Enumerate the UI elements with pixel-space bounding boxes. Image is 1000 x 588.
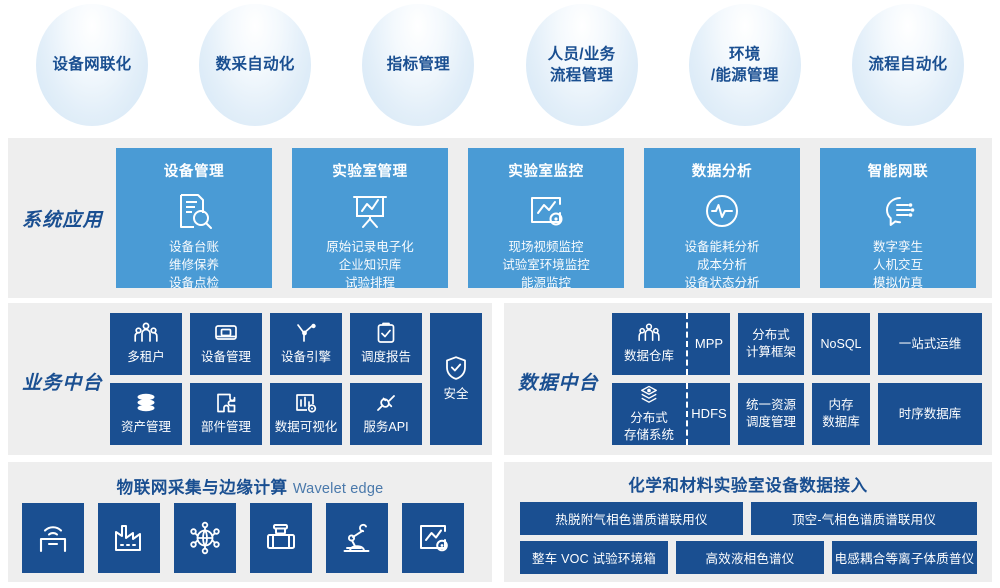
- sys-card-sub-list: 数字孪生 人机交互 模拟仿真: [873, 239, 923, 292]
- capability-oval-row: 设备网联化 数采自动化 指标管理 人员/业务流程管理 环境/能源管理 流程自动化: [0, 0, 1000, 130]
- sys-card-laboratory-monitoring[interactable]: 实验室监控 现场视频监控 试验室环境监控 能源监控: [468, 148, 624, 288]
- sys-card-sub: 设备能耗分析: [684, 239, 759, 257]
- biz-tile-label: 设备引擎: [281, 349, 331, 366]
- data-tile-label: 数据仓库: [624, 348, 674, 365]
- data-tile-label-line1: 统一资源: [746, 397, 796, 414]
- sys-card-intelligent-networking[interactable]: 智能网联 数字孪生 人机交互 模拟仿真: [820, 148, 976, 288]
- data-tile-distributed-compute[interactable]: 分布式 计算框架: [738, 313, 804, 375]
- capability-label: 环境/能源管理: [711, 44, 779, 87]
- lab-box-thermal-desorption-gcms[interactable]: 热脱附气相色谱质谱联用仪: [520, 502, 743, 535]
- sys-card-sub: 企业知识库: [326, 257, 414, 275]
- data-tile-mpp[interactable]: MPP: [686, 313, 730, 375]
- lab-box-icp-ms[interactable]: 电感耦合等离子体质普仪: [832, 541, 977, 574]
- sys-card-sub: 能源监控: [502, 275, 590, 293]
- chart-view-icon: [294, 392, 318, 414]
- biz-tile-dispatch-report[interactable]: 调度报告: [350, 313, 422, 375]
- wifi-gateway-icon: [36, 521, 70, 555]
- capability-label: 指标管理: [387, 54, 450, 75]
- data-tile-label: 一站式运维: [899, 336, 962, 353]
- monitor-chart-eye-icon: [526, 191, 566, 231]
- capability-label: 人员/业务流程管理: [548, 44, 616, 87]
- industrial-equipment-icon: [264, 521, 298, 555]
- biz-tile-label: 资产管理: [121, 419, 171, 436]
- biz-tile-multi-tenant[interactable]: 多租户: [110, 313, 182, 375]
- capability-label-line1: 人员/业务: [548, 46, 616, 63]
- capability-oval[interactable]: 数采自动化: [199, 4, 311, 126]
- data-tile-hdfs[interactable]: HDFS: [686, 383, 730, 445]
- cube-layers-icon: [639, 385, 659, 405]
- capability-label-line1: 环境: [729, 46, 761, 63]
- sys-card-sub: 原始记录电子化: [326, 239, 414, 257]
- sys-card-laboratory-management[interactable]: 实验室管理 原始记录电子化 企业知识库 试验排程: [292, 148, 448, 288]
- clipboard-check-icon: [375, 322, 397, 344]
- lab-box-label: 高效液相色谱仪: [706, 548, 795, 567]
- puzzle-piece-icon: [215, 392, 237, 414]
- sys-card-sub-list: 设备能耗分析 成本分析 设备状态分析: [684, 239, 759, 292]
- biz-tile-device-management[interactable]: 设备管理: [190, 313, 262, 375]
- data-tile-distributed-storage[interactable]: 分布式 存储系统: [612, 383, 686, 445]
- sys-card-sub: 数字孪生: [873, 239, 923, 257]
- data-tile-label-line1: 分布式: [752, 327, 790, 344]
- data-tile-label: HDFS: [691, 405, 726, 423]
- capability-label-line2: 流程管理: [550, 67, 613, 84]
- biz-tile-asset-management[interactable]: 资产管理: [110, 383, 182, 445]
- system-application-row-label: 系统应用: [22, 205, 103, 232]
- document-search-icon: [174, 191, 214, 231]
- device-box-icon: [214, 322, 238, 344]
- digital-twin-head-icon: [878, 191, 918, 231]
- lab-box-label: 顶空-气相色谱质谱联用仪: [792, 509, 936, 528]
- multi-tenant-icon: [638, 323, 660, 343]
- lab-box-headspace-gcms[interactable]: 顶空-气相色谱质谱联用仪: [751, 502, 977, 535]
- sys-card-sub: 人机交互: [873, 257, 923, 275]
- biz-tile-security[interactable]: 安全: [430, 313, 482, 445]
- data-tile-label-line2: 计算框架: [746, 344, 796, 361]
- sys-card-sub-list: 现场视频监控 试验室环境监控 能源监控: [502, 239, 590, 292]
- data-tile-label: MPP: [695, 335, 723, 353]
- iot-edge-subtitle: Wavelet edge: [293, 481, 384, 497]
- biz-tile-label: 数据可视化: [275, 419, 338, 436]
- sys-card-sub: 设备台账: [169, 239, 219, 257]
- sys-card-title: 智能网联: [868, 160, 928, 181]
- data-tile-timeseries-db[interactable]: 时序数据库: [878, 383, 982, 445]
- capability-oval[interactable]: 人员/业务流程管理: [526, 4, 638, 126]
- sys-card-sub-list: 原始记录电子化 企业知识库 试验排程: [326, 239, 414, 292]
- sys-card-data-analysis[interactable]: 数据分析 设备能耗分析 成本分析 设备状态分析: [644, 148, 800, 288]
- biz-tile-label: 部件管理: [201, 419, 251, 436]
- biz-tile-device-engine[interactable]: 设备引擎: [270, 313, 342, 375]
- sys-card-title: 实验室管理: [332, 160, 408, 181]
- biz-tile-data-visualization[interactable]: 数据可视化: [270, 383, 342, 445]
- capability-label-line2: /能源管理: [711, 67, 779, 84]
- sys-card-title: 实验室监控: [508, 160, 584, 181]
- data-tile-label-line1: 分布式: [630, 410, 668, 427]
- sys-card-title: 数据分析: [692, 160, 752, 181]
- data-tile-one-stop-ops[interactable]: 一站式运维: [878, 313, 982, 375]
- biz-tile-label: 安全: [443, 386, 468, 403]
- lab-data-title: 化学和材料实验室设备数据接入: [504, 472, 992, 496]
- sys-card-sub: 试验室环境监控: [502, 257, 590, 275]
- iot-icon-tile-monitor-chart[interactable]: [402, 503, 464, 573]
- iot-icon-tile-factory[interactable]: [98, 503, 160, 573]
- data-tile-label-line2: 存储系统: [624, 427, 674, 444]
- iot-edge-title: 物联网采集与边缘计算 Wavelet edge: [8, 474, 492, 498]
- data-tile-label-line2: 调度管理: [746, 414, 796, 431]
- data-tile-warehouse[interactable]: 数据仓库: [612, 313, 686, 375]
- globe-network-icon: [188, 521, 222, 555]
- biz-tile-label: 多租户: [127, 349, 165, 366]
- iot-icon-tile-wifi-gateway[interactable]: [22, 503, 84, 573]
- lab-box-hplc[interactable]: 高效液相色谱仪: [676, 541, 824, 574]
- data-tile-label: NoSQL: [821, 336, 862, 353]
- iot-icon-tile-globe-network[interactable]: [174, 503, 236, 573]
- capability-label: 流程自动化: [868, 54, 947, 75]
- data-tile-label-line1: 内存: [828, 397, 853, 414]
- sys-card-sub: 模拟仿真: [873, 275, 923, 293]
- iot-icon-tile-industrial-equipment[interactable]: [250, 503, 312, 573]
- sys-card-sub: 维修保养: [169, 257, 219, 275]
- sys-card-sub: 设备状态分析: [684, 275, 759, 293]
- lab-box-voc-chamber[interactable]: 整车 VOC 试验环境箱: [520, 541, 668, 574]
- sys-card-sub: 试验排程: [326, 275, 414, 293]
- sys-card-sub: 现场视频监控: [502, 239, 590, 257]
- architecture-diagram: 设备网联化 数采自动化 指标管理 人员/业务流程管理 环境/能源管理 流程自动化…: [0, 0, 1000, 588]
- database-coins-icon: [134, 392, 158, 414]
- biz-tile-service-api[interactable]: 服务API: [350, 383, 422, 445]
- data-tile-distributed-storage-hdfs[interactable]: 分布式 存储系统 HDFS: [612, 383, 730, 445]
- capability-oval[interactable]: 设备网联化: [36, 4, 148, 126]
- data-tile-label-line2: 数据库: [822, 414, 860, 431]
- biz-tile-label: 调度报告: [361, 349, 411, 366]
- data-tile-unified-resource-scheduling[interactable]: 统一资源 调度管理: [738, 383, 804, 445]
- sys-card-title: 设备管理: [164, 160, 224, 181]
- pulse-circle-icon: [702, 191, 742, 231]
- biz-tile-component-management[interactable]: 部件管理: [190, 383, 262, 445]
- business-platform-row-label: 业务中台: [22, 368, 103, 395]
- capability-oval[interactable]: 环境/能源管理: [689, 4, 801, 126]
- sys-card-sub: 成本分析: [684, 257, 759, 275]
- lab-box-label: 热脱附气相色谱质谱联用仪: [555, 509, 707, 528]
- lab-box-label: 电感耦合等离子体质普仪: [835, 548, 975, 567]
- biz-tile-label: 服务API: [363, 419, 408, 436]
- lab-box-label: 整车 VOC 试验环境箱: [532, 548, 656, 567]
- robot-arm-icon: [340, 521, 374, 555]
- presentation-chart-icon: [350, 191, 390, 231]
- data-tile-label: 时序数据库: [899, 406, 962, 423]
- node-graph-icon: [294, 322, 318, 344]
- data-tile-nosql[interactable]: NoSQL: [812, 313, 870, 375]
- data-tile-warehouse-mpp[interactable]: 数据仓库 MPP: [612, 313, 730, 375]
- plug-connect-icon: [374, 392, 398, 414]
- biz-tile-label: 设备管理: [201, 349, 251, 366]
- shield-check-icon: [444, 355, 468, 381]
- sys-card-device-management[interactable]: 设备管理 设备台账 维修保养 设备点检: [116, 148, 272, 288]
- capability-oval[interactable]: 指标管理: [362, 4, 474, 126]
- multi-tenant-icon: [134, 322, 158, 344]
- sys-card-sub-list: 设备台账 维修保养 设备点检: [169, 239, 219, 292]
- data-platform-row-label: 数据中台: [518, 368, 599, 395]
- factory-icon: [112, 521, 146, 555]
- data-tile-in-memory-db[interactable]: 内存 数据库: [812, 383, 870, 445]
- capability-label: 数采自动化: [216, 54, 295, 75]
- capability-label: 设备网联化: [52, 54, 131, 75]
- capability-oval[interactable]: 流程自动化: [852, 4, 964, 126]
- monitor-chart-eye-icon: [416, 521, 450, 555]
- sys-card-sub: 设备点检: [169, 275, 219, 293]
- iot-edge-title-text: 物联网采集与边缘计算: [117, 479, 288, 497]
- iot-icon-tile-robot-arm[interactable]: [326, 503, 388, 573]
